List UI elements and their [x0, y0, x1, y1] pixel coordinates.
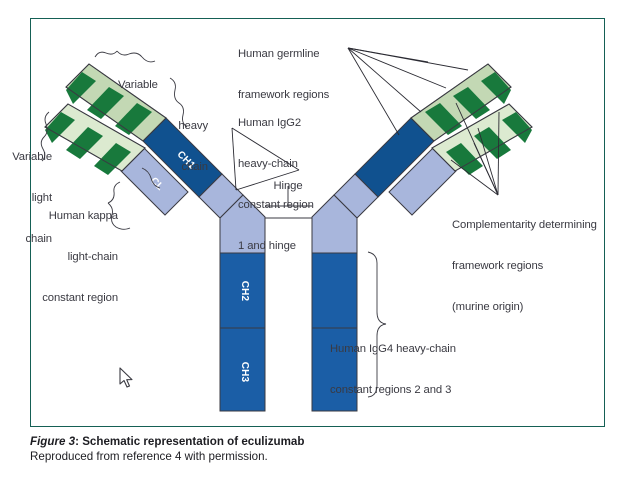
ch2-label: CH2 — [239, 281, 250, 302]
label-human-kappa-constant: Human kappa light-chain constant region — [14, 183, 118, 333]
label-line: Human IgG4 heavy-chain — [330, 343, 490, 357]
mouse-cursor-icon — [119, 367, 135, 389]
label-line: constant region — [238, 199, 343, 213]
label-line: light-chain — [14, 251, 118, 265]
label-line: Complementarity determining — [452, 219, 622, 233]
label-line: heavy-chain — [238, 158, 343, 172]
label-line: Human germline — [238, 48, 358, 62]
label-hinge: Hinge — [264, 180, 312, 194]
label-line: 1 and hinge — [238, 240, 343, 254]
label-line: Human kappa — [14, 210, 118, 224]
label-line: framework regions — [452, 260, 622, 274]
label-line: Human IgG2 — [238, 117, 343, 131]
figure-caption: Figure 3: Schematic representation of ec… — [30, 434, 610, 464]
caption-credit: Reproduced from reference 4 with permiss… — [30, 449, 610, 464]
caption-figure-number: Figure 3 — [30, 435, 75, 448]
label-variable-heavy-chain: Variable heavy chain — [118, 52, 208, 202]
label-line: Variable — [0, 151, 52, 165]
label-line: chain — [118, 161, 208, 175]
label-line: heavy — [118, 120, 208, 134]
caption-title-line: Figure 3: Schematic representation of ec… — [30, 434, 610, 449]
label-human-igg4: Human IgG4 heavy-chain constant regions … — [330, 316, 490, 425]
label-line: constant regions 2 and 3 — [330, 384, 490, 398]
caption-title-text: : Schematic representation of eculizumab — [75, 435, 304, 448]
label-line: Variable — [118, 79, 208, 93]
figure-page: .out{stroke:#3a3a42;stroke-width:1;} .le… — [0, 0, 633, 485]
label-line: (murine origin) — [452, 301, 622, 315]
ch3-label: CH3 — [239, 362, 250, 383]
label-line: constant region — [14, 292, 118, 306]
